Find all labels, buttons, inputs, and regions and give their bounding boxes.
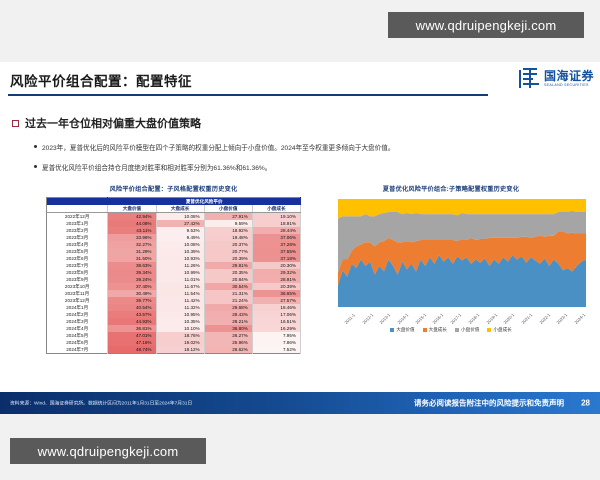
table-cell-value: 10.10% — [156, 325, 204, 332]
table-cell-value: 25.96% — [204, 339, 252, 346]
table-cell-month: 2023年2月 — [47, 227, 108, 234]
table-cell-value: 10.08% — [156, 213, 204, 221]
table-cell-value: 30.49% — [108, 290, 156, 297]
table-cell-month: 2023年1月 — [47, 220, 108, 227]
allocation-table: 夏普优化风险平价 大盘价值大盘成长小盘价值小盘成长 2022年12月42.94%… — [46, 197, 301, 354]
table-cell-value: 39.24% — [108, 276, 156, 283]
slide-header: 风险平价组合配置：配置特征 国海证券 SEALAND SECURITIES — [0, 62, 600, 106]
table-cell-value: 19.02% — [156, 339, 204, 346]
table-cell-value: 16.29% — [252, 325, 300, 332]
chart-title: 夏普优化风险平价组合:子策略配置权重历史变化 — [312, 184, 590, 193]
table-cell-value: 31.50% — [108, 255, 156, 262]
table-cell-value: 20.35% — [204, 269, 252, 276]
footer-disclaimer: 请务必阅读报告附注中的风险提示和免责声明 — [414, 398, 564, 409]
table-date-column-header — [47, 205, 108, 213]
table-cell-value: 37.06% — [252, 234, 300, 241]
table-row: 2023年8月39.34%10.99%20.35%29.32% — [47, 269, 301, 276]
table-cell-value: 11.32% — [156, 304, 204, 311]
table-row: 2023年12月39.77%11.42%21.24%27.57% — [47, 297, 301, 304]
table-cell-value: 36.80% — [204, 325, 252, 332]
table-cell-value: 21.24% — [204, 297, 252, 304]
table-column-header-1: 大盘价值 — [108, 205, 156, 213]
table-cell-value: 28.44% — [252, 227, 300, 234]
watermark-bottom: www.qdruipengkeji.com — [10, 438, 206, 464]
table-cell-value: 11.01% — [156, 276, 204, 283]
allocation-table-panel: 风险平价组合配置：子风格配置权重历史变化 夏普优化风险平价 大盘价值大盘成长小盘… — [46, 184, 301, 354]
dot-bullet-icon — [34, 145, 37, 148]
table-cell-value: 18.91% — [252, 220, 300, 227]
table-cell-value: 37.40% — [108, 283, 156, 290]
table-row: 2024年7月48.74%18.12%26.62%7.52% — [47, 346, 301, 354]
table-row: 2024年4月36.81%10.10%36.80%16.29% — [47, 325, 301, 332]
table-cell-value: 10.99% — [156, 269, 204, 276]
table-cell-month: 2022年12月 — [47, 213, 108, 221]
table-cell-value: 44.93% — [108, 318, 156, 325]
table-cell-value: 9.59% — [204, 220, 252, 227]
company-logo: 国海证券 SEALAND SECURITIES — [518, 68, 594, 90]
table-cell-value: 30.54% — [204, 283, 252, 290]
legend-swatch-icon — [487, 328, 491, 332]
slide-footer-bar: 资料来源：Wind、国海证券研究所。数据统计区间为2011年1月31日至2024… — [0, 392, 600, 414]
table-cell-value: 27.42% — [156, 220, 204, 227]
chart-x-tick: 2022-1 — [538, 312, 551, 325]
chart-x-tick: 2021-1 — [520, 312, 533, 325]
stacked-area-svg — [338, 199, 586, 307]
chart-x-tick: 2017-1 — [450, 312, 463, 325]
table-row: 2022年12月42.94%10.08%27.91%19.10% — [47, 213, 301, 221]
bullet-item-1: 2023年，夏普优化后的风险平价模型在四个子策略的权重分配上倾向于小盘价值。20… — [34, 142, 394, 152]
table-row: 2023年7月38.63%11.26%29.81%20.30% — [47, 262, 301, 269]
table-group-header-row: 夏普优化风险平价 — [47, 198, 301, 206]
table-row: 2023年6月31.50%10.93%20.39%37.18% — [47, 255, 301, 262]
table-cell-value: 28.21% — [204, 318, 252, 325]
logo-text: 国海证券 SEALAND SECURITIES — [544, 70, 594, 88]
table-cell-value: 26.27% — [204, 332, 252, 339]
table-column-header-3: 小盘价值 — [204, 205, 252, 213]
table-cell-value: 10.95% — [156, 311, 204, 318]
table-cell-value: 19.10% — [252, 213, 300, 221]
table-cell-value: 21.31% — [204, 290, 252, 297]
bullet-item-2: 夏普优化风险平价组合持仓月度绝对胜率和相对胜率分别为61.36%和61.36%。 — [34, 162, 271, 172]
header-divider — [8, 94, 488, 96]
section-heading-label: 过去一年仓位相对偏重大盘价值策略 — [25, 115, 201, 131]
table-cell-value: 11.26% — [156, 262, 204, 269]
chart-legend-item: 小盘价值 — [455, 327, 479, 333]
chart-legend-item: 大盘成长 — [423, 327, 447, 333]
table-cell-value: 29.81% — [204, 262, 252, 269]
footer-source: 资料来源：Wind、国海证券研究所。数据统计区间为2011年1月31日至2024… — [10, 400, 192, 407]
chart-box: 0%10%20%30%40%50%60%70%80%90%100% 2011-1… — [312, 197, 590, 325]
table-cell-value: 27.91% — [204, 213, 252, 221]
chart-x-tick: 2016-1 — [432, 312, 445, 325]
table-cell-value: 7.52% — [252, 346, 300, 354]
chart-x-tick: 2014-1 — [396, 312, 409, 325]
page-title: 风险平价组合配置：配置特征 — [10, 70, 192, 90]
bullet-item-1-label: 2023年，夏普优化后的风险平价模型在四个子策略的权重分配上倾向于小盘价值。20… — [42, 142, 394, 152]
table-cell-value: 36.65% — [252, 290, 300, 297]
table-cell-value: 19.48% — [204, 234, 252, 241]
chart-x-tick: 2023-1 — [556, 312, 569, 325]
table-cell-value: 16.51% — [252, 318, 300, 325]
table-cell-value: 37.28% — [252, 241, 300, 248]
chart-legend: 大盘价值大盘成长小盘价值小盘成长 — [312, 327, 590, 333]
chart-legend-item: 小盘成长 — [487, 327, 511, 333]
table-cell-value: 43.11% — [108, 227, 156, 234]
chart-x-tick: 2018-1 — [467, 312, 480, 325]
table-row: 2023年2月43.11%9.53%18.92%28.44% — [47, 227, 301, 234]
watermark-top: www.qdruipengkeji.com — [388, 12, 584, 38]
chart-x-axis: 2011-12012-12013-12014-12015-12016-12017… — [338, 307, 586, 325]
chart-legend-label: 大盘价值 — [396, 327, 414, 333]
chart-x-tick: 2020-1 — [503, 312, 516, 325]
table-cell-value: 20.84% — [204, 276, 252, 283]
chart-legend-label: 大盘成长 — [429, 327, 447, 333]
table-row: 2024年2月43.57%10.95%28.43%17.06% — [47, 311, 301, 318]
table-row: 2023年3月33.96%9.49%19.48%37.06% — [47, 234, 301, 241]
table-cell-value: 10.93% — [156, 255, 204, 262]
table-cell-month: 2023年9月 — [47, 276, 108, 283]
table-row: 2023年1月44.08%27.42%9.59%18.91% — [47, 220, 301, 227]
table-cell-value: 27.57% — [252, 297, 300, 304]
sealand-logo-icon — [518, 68, 540, 90]
chart-legend-item: 大盘价值 — [390, 327, 414, 333]
table-row: 2023年5月31.29%10.39%20.77%37.55% — [47, 248, 301, 255]
table-cell-value: 42.94% — [108, 213, 156, 221]
table-cell-value: 39.77% — [108, 297, 156, 304]
table-cell-value: 28.43% — [204, 311, 252, 318]
table-column-header-4: 小盘成长 — [252, 205, 300, 213]
table-cell-value: 18.46% — [252, 304, 300, 311]
chart-x-tick: 2012-1 — [361, 312, 374, 325]
table-title: 风险平价组合配置：子风格配置权重历史变化 — [46, 184, 301, 193]
table-row: 2023年11月30.49%11.54%21.31%36.65% — [47, 290, 301, 297]
table-cell-month: 2023年7月 — [47, 262, 108, 269]
table-cell-value: 29.68% — [204, 304, 252, 311]
table-row: 2023年10月37.40%11.67%30.54%20.39% — [47, 283, 301, 290]
table-cell-value: 20.39% — [204, 255, 252, 262]
table-cell-month: 2024年2月 — [47, 311, 108, 318]
table-row: 2023年9月39.24%11.01%20.84%28.91% — [47, 276, 301, 283]
chart-x-tick: 2019-1 — [485, 312, 498, 325]
table-cell-month: 2023年4月 — [47, 241, 108, 248]
table-cell-value: 44.08% — [108, 220, 156, 227]
table-cell-value: 32.27% — [108, 241, 156, 248]
chart-x-tick: 2013-1 — [379, 312, 392, 325]
table-cell-value: 7.86% — [252, 339, 300, 346]
table-cell-value: 20.30% — [252, 262, 300, 269]
table-cell-month: 2024年3月 — [47, 318, 108, 325]
chart-x-tick: 2024-1 — [574, 312, 587, 325]
slide-page: 风险平价组合配置：配置特征 国海证券 SEALAND SECURITIES — [0, 0, 600, 480]
table-cell-month: 2023年5月 — [47, 248, 108, 255]
table-row: 2023年4月32.27%10.08%20.37%37.28% — [47, 241, 301, 248]
table-row: 2024年5月47.01%18.76%26.27%7.95% — [47, 332, 301, 339]
page-number: 28 — [581, 399, 590, 408]
table-cell-value: 39.34% — [108, 269, 156, 276]
table-cell-month: 2023年11月 — [47, 290, 108, 297]
table-column-header-row: 大盘价值大盘成长小盘价值小盘成长 — [47, 205, 301, 213]
table-cell-value: 37.55% — [252, 248, 300, 255]
table-cell-month: 2023年12月 — [47, 297, 108, 304]
table-cell-value: 36.81% — [108, 325, 156, 332]
table-cell-month: 2023年10月 — [47, 283, 108, 290]
table-cell-month: 2023年8月 — [47, 269, 108, 276]
table-cell-value: 17.06% — [252, 311, 300, 318]
table-cell-value: 9.49% — [156, 234, 204, 241]
table-group-label: 夏普优化风险平价 — [108, 198, 301, 206]
table-cell-value: 38.63% — [108, 262, 156, 269]
table-cell-month: 2023年3月 — [47, 234, 108, 241]
legend-swatch-icon — [423, 328, 427, 332]
weights-chart-panel: 夏普优化风险平价组合:子策略配置权重历史变化 0%10%20%30%40%50%… — [312, 184, 590, 333]
logo-name-en: SEALAND SECURITIES — [544, 84, 594, 88]
table-cell-month: 2024年1月 — [47, 304, 108, 311]
table-body: 2022年12月42.94%10.08%27.91%19.10%2023年1月4… — [47, 213, 301, 354]
logo-name-cn: 国海证券 — [544, 70, 594, 82]
table-group-blank-cell — [47, 198, 108, 206]
table-cell-value: 11.67% — [156, 283, 204, 290]
chart-x-tick: 2015-1 — [414, 312, 427, 325]
chart-legend-label: 小盘成长 — [493, 327, 511, 333]
table-cell-month: 2024年5月 — [47, 332, 108, 339]
table-cell-value: 37.18% — [252, 255, 300, 262]
table-cell-value: 43.57% — [108, 311, 156, 318]
section-heading: 过去一年仓位相对偏重大盘价值策略 — [12, 115, 201, 131]
table-cell-value: 20.37% — [204, 241, 252, 248]
table-cell-value: 10.39% — [156, 248, 204, 255]
table-cell-value: 10.08% — [156, 241, 204, 248]
table-row: 2024年6月47.16%19.02%25.96%7.86% — [47, 339, 301, 346]
square-bullet-icon — [12, 120, 19, 127]
table-row: 2024年3月44.93%10.35%28.21%16.51% — [47, 318, 301, 325]
table-row: 2024年1月40.54%11.32%29.68%18.46% — [47, 304, 301, 311]
table-cell-value: 48.74% — [108, 346, 156, 354]
table-cell-month: 2024年6月 — [47, 339, 108, 346]
table-cell-value: 10.35% — [156, 318, 204, 325]
chart-x-tick: 2011-1 — [343, 312, 356, 325]
table-cell-value: 47.01% — [108, 332, 156, 339]
legend-swatch-icon — [390, 328, 394, 332]
table-cell-value: 26.62% — [204, 346, 252, 354]
table-cell-value: 47.16% — [108, 339, 156, 346]
table-cell-value: 20.39% — [252, 283, 300, 290]
table-head: 夏普优化风险平价 大盘价值大盘成长小盘价值小盘成长 — [47, 198, 301, 213]
table-cell-value: 7.95% — [252, 332, 300, 339]
table-cell-value: 18.12% — [156, 346, 204, 354]
table-cell-value: 11.54% — [156, 290, 204, 297]
slide-canvas: 风险平价组合配置：配置特征 国海证券 SEALAND SECURITIES — [0, 62, 600, 414]
table-cell-month: 2024年4月 — [47, 325, 108, 332]
table-cell-month: 2024年7月 — [47, 346, 108, 354]
table-cell-value: 9.53% — [156, 227, 204, 234]
table-cell-value: 40.54% — [108, 304, 156, 311]
table-cell-value: 11.42% — [156, 297, 204, 304]
table-cell-value: 28.91% — [252, 276, 300, 283]
chart-plot-area: 0%10%20%30%40%50%60%70%80%90%100% — [338, 199, 586, 307]
table-cell-month: 2023年6月 — [47, 255, 108, 262]
table-cell-value: 31.29% — [108, 248, 156, 255]
table-cell-value: 18.92% — [204, 227, 252, 234]
table-cell-value: 33.96% — [108, 234, 156, 241]
table-cell-value: 29.32% — [252, 269, 300, 276]
bullet-item-2-label: 夏普优化风险平价组合持仓月度绝对胜率和相对胜率分别为61.36%和61.36%。 — [42, 162, 271, 172]
table-cell-value: 18.76% — [156, 332, 204, 339]
table-cell-value: 20.77% — [204, 248, 252, 255]
chart-legend-label: 小盘价值 — [461, 327, 479, 333]
dot-bullet-icon — [34, 165, 37, 168]
table-column-header-2: 大盘成长 — [156, 205, 204, 213]
legend-swatch-icon — [455, 328, 459, 332]
